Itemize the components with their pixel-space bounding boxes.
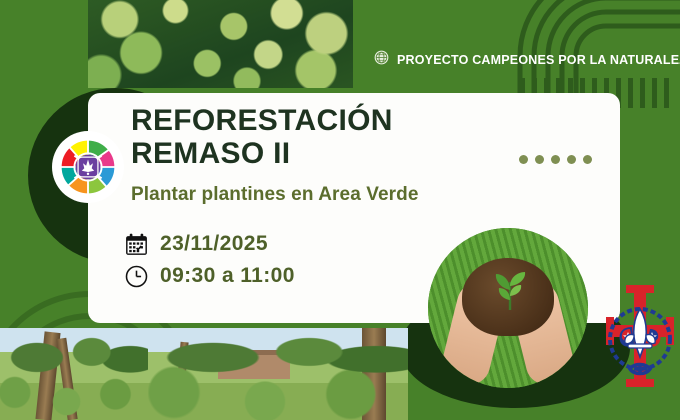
scouts-emblem — [604, 283, 676, 393]
dot — [519, 155, 528, 164]
event-meta: 23/11/2025 09:30 a 11:00 — [120, 228, 295, 292]
brand-title: PROYECTO CAMPEONES POR LA NATURALEZA — [397, 53, 680, 67]
title-line-1: REFORESTACIÓN — [131, 104, 531, 137]
mosaic-logo-icon — [57, 136, 119, 198]
decorative-dots — [519, 155, 592, 164]
calendar-icon — [120, 232, 152, 257]
clock-icon — [120, 264, 152, 289]
sprout-graphic — [490, 266, 530, 310]
green-area-photo-1 — [0, 328, 148, 420]
meta-row-time: 09:30 a 11:00 — [120, 260, 295, 292]
dot — [567, 155, 576, 164]
scouts-emblem-icon — [604, 283, 676, 393]
brand-header: PROYECTO CAMPEONES POR LA NATURALEZA — [374, 50, 680, 70]
event-time: 09:30 a 11:00 — [160, 264, 295, 288]
poster-canvas: PROYECTO CAMPEONES POR LA NATURALEZA — [0, 0, 680, 420]
mosaic-logo — [52, 131, 124, 203]
event-date: 23/11/2025 — [160, 232, 268, 256]
globe-icon — [374, 50, 389, 70]
hands-seedling-photo — [428, 228, 588, 388]
dot — [535, 155, 544, 164]
event-subtitle: Plantar plantines en Area Verde — [131, 184, 419, 206]
green-area-photo-2 — [148, 328, 408, 420]
title-line-2: REMASO II — [131, 137, 531, 170]
forest-canopy-photo — [88, 0, 353, 88]
dot — [551, 155, 560, 164]
meta-row-date: 23/11/2025 — [120, 228, 295, 260]
event-title: REFORESTACIÓN REMASO II — [131, 104, 531, 170]
dot — [583, 155, 592, 164]
